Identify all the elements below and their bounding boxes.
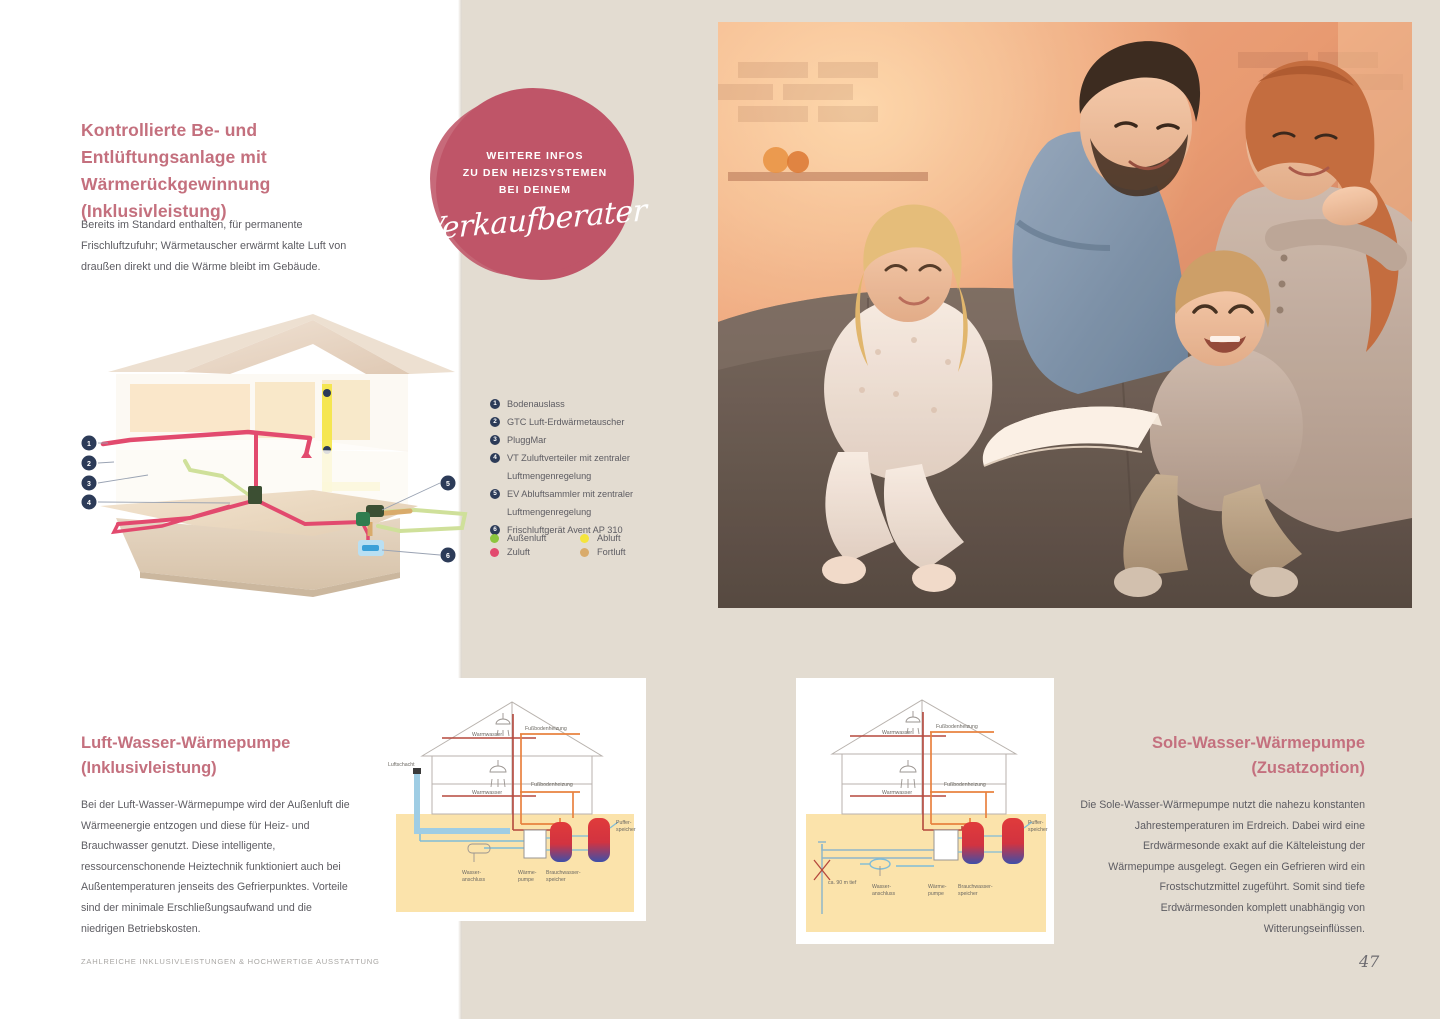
legend-item: 3 PluggMar: [490, 433, 690, 448]
family-lifestyle-photo: [718, 22, 1412, 608]
color-key-label: Außenluft: [507, 533, 546, 543]
label-waermepumpe-2: pumpe: [518, 877, 534, 883]
label-warmwasser-upper: Warmwasser: [472, 732, 502, 738]
ventilation-body: Bereits im Standard enthalten, für perma…: [81, 215, 381, 278]
legend-number-badge: 4: [490, 453, 500, 463]
brochure-page: Kontrollierte Be- und Entlüftungsanlage …: [0, 0, 1440, 1019]
svg-text:1: 1: [87, 441, 91, 448]
sales-advisor-badge[interactable]: WEITERE INFOS ZU DEN HEIZSYSTEMEN BEI DE…: [436, 88, 634, 280]
label-pufferspeicher-2: speicher: [1028, 827, 1048, 833]
color-swatch-icon: [580, 548, 589, 557]
svg-text:6: 6: [446, 553, 450, 560]
label-fussbodenheizung-lower: Fußbodenheizung: [531, 782, 573, 788]
label-brauchwasserspeicher: Brauchwasser-: [958, 884, 993, 890]
svg-text:4: 4: [87, 500, 91, 507]
legend-item-continuation: Luftmengenregelung: [490, 505, 690, 520]
legend-number-badge: 3: [490, 435, 500, 445]
legend-item-label: PluggMar: [507, 433, 546, 448]
legend-number-badge: 5: [490, 489, 500, 499]
badge-script-word: Verkaufberater: [423, 194, 647, 248]
label-pufferspeicher-2: speicher: [616, 827, 636, 833]
page-number: 47: [1359, 952, 1379, 971]
ventilation-legend: 1 Bodenauslass 2 GTC Luft-Erdwärmetausch…: [490, 397, 690, 541]
svg-text:5: 5: [446, 481, 450, 488]
label-wasseranschluss: Wasser-: [462, 870, 481, 876]
label-brauchwasserspeicher-2: speicher: [546, 877, 566, 883]
label-borehole-depth: ca. 90 m tief: [828, 880, 857, 886]
legend-item-label: VT Zuluftverteiler mit zentraler: [507, 451, 630, 466]
brine-water-body: Die Sole-Wasser-Wärmepumpe nutzt die nah…: [1080, 795, 1365, 939]
label-fussbodenheizung-upper: Fußbodenheizung: [936, 724, 978, 730]
color-key-item-abluft: Abluft: [580, 533, 670, 543]
label-wasseranschluss: Wasser-: [872, 884, 891, 890]
footer-note: ZAHLREICHE INKLUSIVLEISTUNGEN & HOCHWERT…: [81, 957, 380, 966]
air-water-heading: Luft-Wasser-Wärmepumpe (Inklusivleistung…: [81, 731, 381, 781]
legend-item: 4 VT Zuluftverteiler mit zentraler: [490, 451, 690, 466]
label-waermepumpe: Wärme-: [928, 884, 947, 890]
svg-text:2: 2: [87, 461, 91, 468]
airflow-color-key: Außenluft Abluft Zuluft Fortluft: [490, 533, 670, 557]
label-waermepumpe: Wärme-: [518, 870, 537, 876]
air-water-heat-pump-diagram: Luftschacht Warmwasser Fußbodenheizung W…: [384, 678, 646, 921]
color-key-label: Abluft: [597, 533, 621, 543]
label-waermepumpe-2: pumpe: [928, 891, 944, 897]
label-brauchwasserspeicher: Brauchwasser-: [546, 870, 581, 876]
label-warmwasser-lower: Warmwasser: [882, 790, 912, 796]
color-swatch-icon: [490, 548, 499, 557]
legend-item: 5 EV Abluftsammler mit zentraler: [490, 487, 690, 502]
legend-item: 1 Bodenauslass: [490, 397, 690, 412]
label-pufferspeicher: Puffer-: [1028, 820, 1044, 826]
ventilation-heading: Kontrollierte Be- und Entlüftungsanlage …: [81, 117, 411, 225]
color-key-label: Zuluft: [507, 547, 530, 557]
badge-line-1: WEITERE INFOS: [486, 149, 583, 164]
legend-item-label: EV Abluftsammler mit zentraler: [507, 487, 633, 502]
badge-line-3: BEI DEINEM: [499, 183, 571, 198]
label-fussbodenheizung-upper: Fußbodenheizung: [525, 726, 567, 732]
label-warmwasser-lower: Warmwasser: [472, 790, 502, 796]
color-key-item-aussenluft: Außenluft: [490, 533, 580, 543]
label-brauchwasserspeicher-2: speicher: [958, 891, 978, 897]
legend-item-continuation: Luftmengenregelung: [490, 469, 690, 484]
legend-item-label: Bodenauslass: [507, 397, 565, 412]
svg-text:3: 3: [87, 481, 91, 488]
color-key-item-fortluft: Fortluft: [580, 547, 670, 557]
badge-text-group: WEITERE INFOS ZU DEN HEIZSYSTEMEN BEI DE…: [436, 88, 634, 280]
label-wasseranschluss-2: anschluss: [872, 891, 895, 897]
air-water-body: Bei der Luft-Wasser-Wärmepumpe wird der …: [81, 795, 353, 939]
label-luftschacht: Luftschacht: [388, 762, 415, 768]
ventilation-house-illustration: 1 2 3 4 5 6: [70, 300, 470, 600]
brine-water-heat-pump-diagram: ca. 90 m tief Warmwasser Fußbodenheizung…: [796, 678, 1054, 944]
color-swatch-icon: [580, 534, 589, 543]
color-swatch-icon: [490, 534, 499, 543]
label-pufferspeicher: Puffer-: [616, 820, 632, 826]
color-key-item-zuluft: Zuluft: [490, 547, 580, 557]
label-wasseranschluss-2: anschluss: [462, 877, 485, 883]
legend-number-badge: 1: [490, 399, 500, 409]
badge-line-2: ZU DEN HEIZSYSTEMEN: [463, 166, 608, 181]
legend-number-badge: 2: [490, 417, 500, 427]
legend-item-label: GTC Luft-Erdwärmetauscher: [507, 415, 624, 430]
legend-item: 2 GTC Luft-Erdwärmetauscher: [490, 415, 690, 430]
color-key-label: Fortluft: [597, 547, 626, 557]
label-fussbodenheizung-lower: Fußbodenheizung: [944, 782, 986, 788]
label-warmwasser-upper: Warmwasser: [882, 730, 912, 736]
brine-water-heading: Sole-Wasser-Wärmepumpe (Zusatzoption): [1060, 731, 1365, 781]
